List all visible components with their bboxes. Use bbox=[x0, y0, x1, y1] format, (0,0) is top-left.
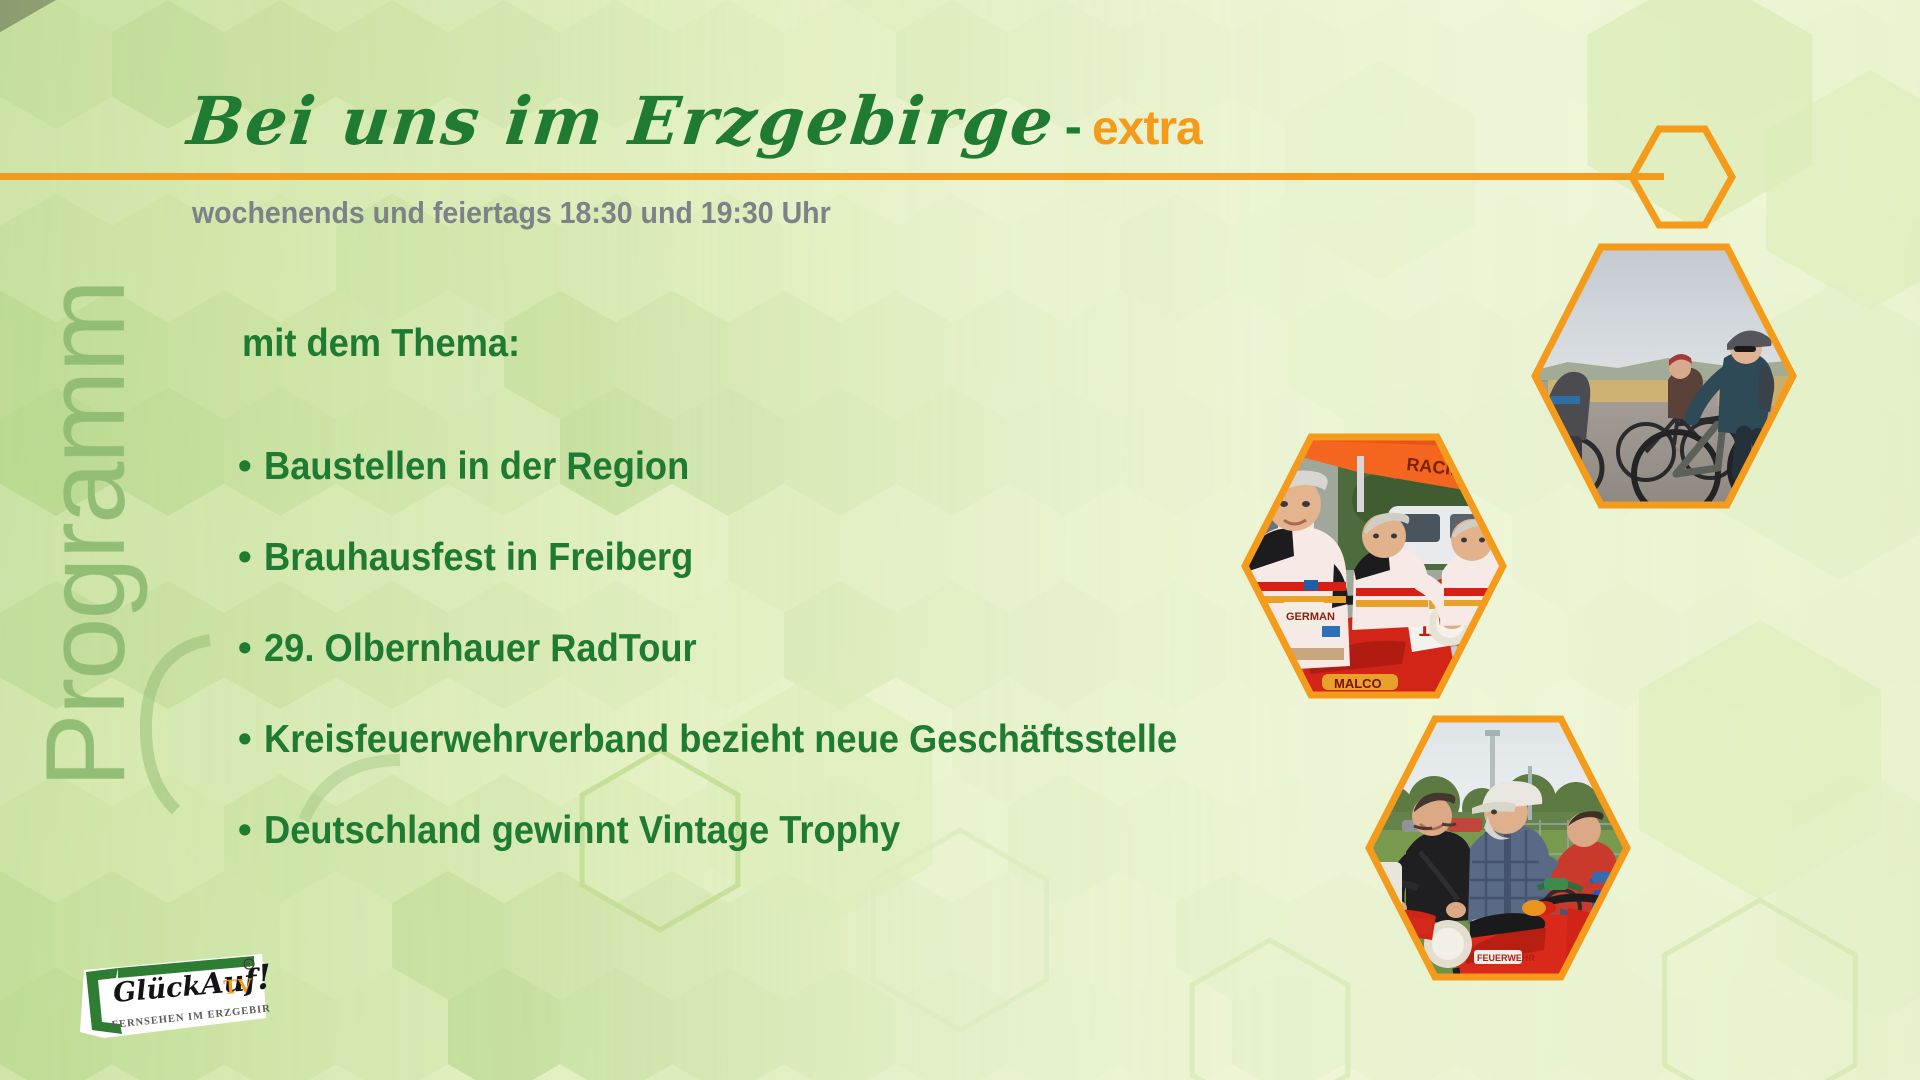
vertical-section-label: Programm bbox=[21, 281, 150, 788]
photo-feuerwehr-moped: 112 FEUERWEHR bbox=[1362, 712, 1634, 984]
intro-text: mit dem Thema: bbox=[242, 322, 520, 366]
photo-cyclists bbox=[1528, 240, 1800, 512]
bullet-icon: • bbox=[238, 629, 264, 668]
topic-label: 29. Olbernhauer RadTour bbox=[264, 627, 697, 671]
bullet-icon: • bbox=[238, 538, 264, 577]
accent-rule bbox=[0, 173, 1664, 180]
topic-list: • Baustellen in der Region • Brauhausfes… bbox=[238, 445, 1246, 900]
topic-label: Deutschland gewinnt Vintage Trophy bbox=[264, 809, 900, 853]
title-script-part: Bei uns im Erzgebirge bbox=[185, 88, 1059, 154]
list-item: • Deutschland gewinnt Vintage Trophy bbox=[238, 809, 1246, 900]
svg-text:GERMAN: GERMAN bbox=[1286, 611, 1335, 623]
glueckauf-tv-logo: R GlückAuf! TV FERNSEHEN IM ERZGEBIRGE bbox=[78, 952, 270, 1040]
list-item: • Kreisfeuerwehrverband bezieht neue Ges… bbox=[238, 718, 1246, 809]
list-item: • 29. Olbernhauer RadTour bbox=[238, 627, 1246, 718]
slide-canvas: Bei uns im Erzgebirge-extra wochenends u… bbox=[0, 0, 1920, 1080]
logo-tv-text: TV bbox=[223, 973, 254, 999]
bullet-icon: • bbox=[238, 447, 264, 486]
broadcast-times: wochenends und feiertags 18:30 und 19:30… bbox=[192, 195, 831, 231]
bullet-icon: • bbox=[238, 720, 264, 759]
list-item: • Baustellen in der Region bbox=[238, 445, 1246, 536]
accent-hexagon-icon bbox=[1628, 125, 1736, 229]
svg-text:MALCO: MALCO bbox=[1334, 676, 1382, 691]
title-dash: - bbox=[1055, 101, 1092, 153]
topic-label: Kreisfeuerwehrverband bezieht neue Gesch… bbox=[264, 718, 1177, 762]
list-item: • Brauhausfest in Freiberg bbox=[238, 536, 1246, 627]
topic-label: Brauhausfest in Freiberg bbox=[264, 536, 693, 580]
page-title: Bei uns im Erzgebirge-extra bbox=[188, 88, 1202, 154]
bullet-icon: • bbox=[238, 811, 264, 850]
svg-text:112: 112 bbox=[1578, 960, 1608, 984]
title-extra-part: extra bbox=[1092, 105, 1202, 153]
topic-label: Baustellen in der Region bbox=[264, 445, 689, 489]
photo-motocross-team: RACING MALCO 11 bbox=[1238, 430, 1510, 702]
svg-text:FEUERWEHR: FEUERWEHR bbox=[1477, 953, 1535, 963]
